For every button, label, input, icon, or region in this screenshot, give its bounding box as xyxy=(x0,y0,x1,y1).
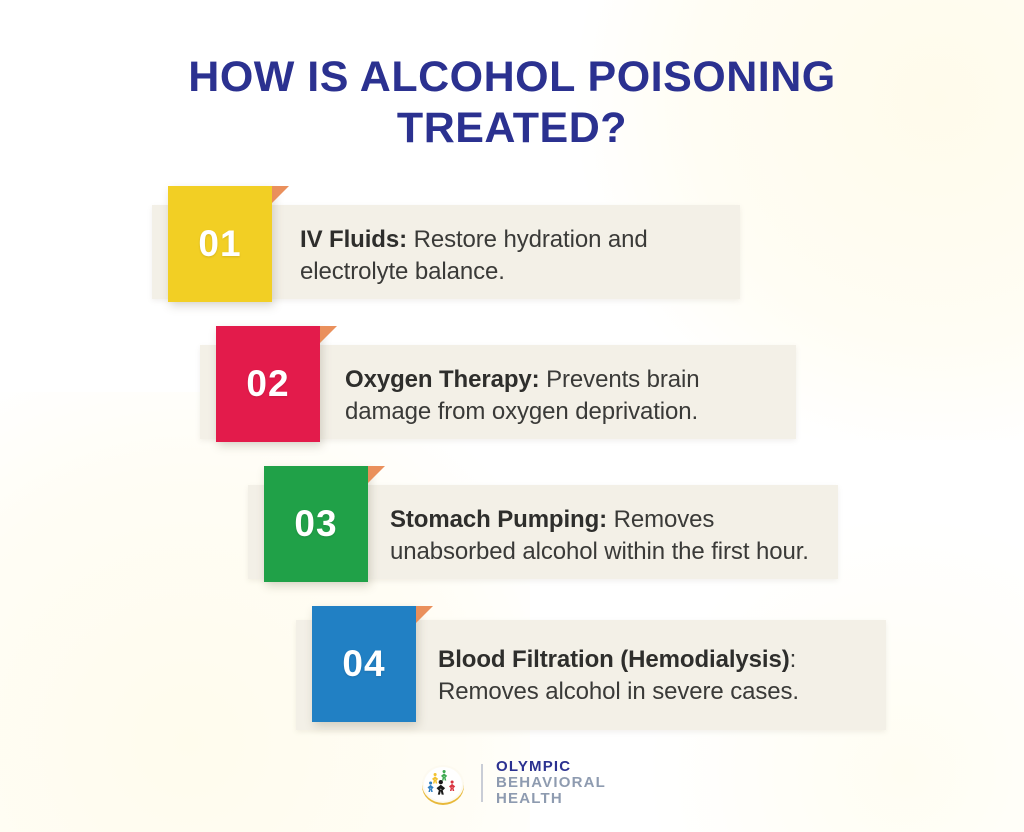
step-number-label: 04 xyxy=(312,606,416,722)
step-description: Oxygen Therapy: Prevents brain damage fr… xyxy=(345,364,765,428)
step-heading: Oxygen Therapy: xyxy=(345,366,540,393)
logo-wordmark: OLYMPIC BEHAVIORAL HEALTH xyxy=(496,759,606,807)
list-item: 01 IV Fluids: Restore hydration and elec… xyxy=(0,186,1024,326)
corner-fold-icon xyxy=(416,606,433,623)
corner-fold-icon xyxy=(272,186,289,203)
step-number-badge: 02 xyxy=(216,326,320,442)
corner-fold-icon xyxy=(368,466,385,483)
infographic-poster: HOW IS ALCOHOL POISONING TREATED? 01 IV … xyxy=(0,0,1024,832)
steps-list: 01 IV Fluids: Restore hydration and elec… xyxy=(0,186,1024,746)
step-number-badge: 04 xyxy=(312,606,416,722)
step-number-badge: 01 xyxy=(168,186,272,302)
step-number-label: 02 xyxy=(216,326,320,442)
step-description: Blood Filtration (Hemodialysis): Removes… xyxy=(438,644,838,708)
step-number-label: 01 xyxy=(168,186,272,302)
step-heading: Blood Filtration (Hemodialysis) xyxy=(438,646,790,673)
logo-line-behavioral: BEHAVIORAL xyxy=(496,775,606,791)
logo-divider xyxy=(481,764,483,802)
corner-fold-icon xyxy=(320,326,337,343)
page-title: HOW IS ALCOHOL POISONING TREATED? xyxy=(0,52,1024,153)
step-description: Stomach Pumping: Removes unabsorbed alco… xyxy=(390,504,820,568)
list-item: 02 Oxygen Therapy: Prevents brain damage… xyxy=(0,326,1024,466)
list-item: 04 Blood Filtration (Hemodialysis): Remo… xyxy=(0,606,1024,746)
list-item: 03 Stomach Pumping: Removes unabsorbed a… xyxy=(0,466,1024,606)
brand-logo: OLYMPIC BEHAVIORAL HEALTH xyxy=(0,758,1024,808)
step-heading: Stomach Pumping: xyxy=(390,506,607,533)
step-description: IV Fluids: Restore hydration and electro… xyxy=(300,224,720,288)
logo-line-health: HEALTH xyxy=(496,791,606,807)
olympic-behavioral-health-emblem-icon xyxy=(418,758,468,808)
step-number-badge: 03 xyxy=(264,466,368,582)
logo-line-olympic: OLYMPIC xyxy=(496,759,606,775)
step-heading: IV Fluids: xyxy=(300,226,407,253)
step-number-label: 03 xyxy=(264,466,368,582)
